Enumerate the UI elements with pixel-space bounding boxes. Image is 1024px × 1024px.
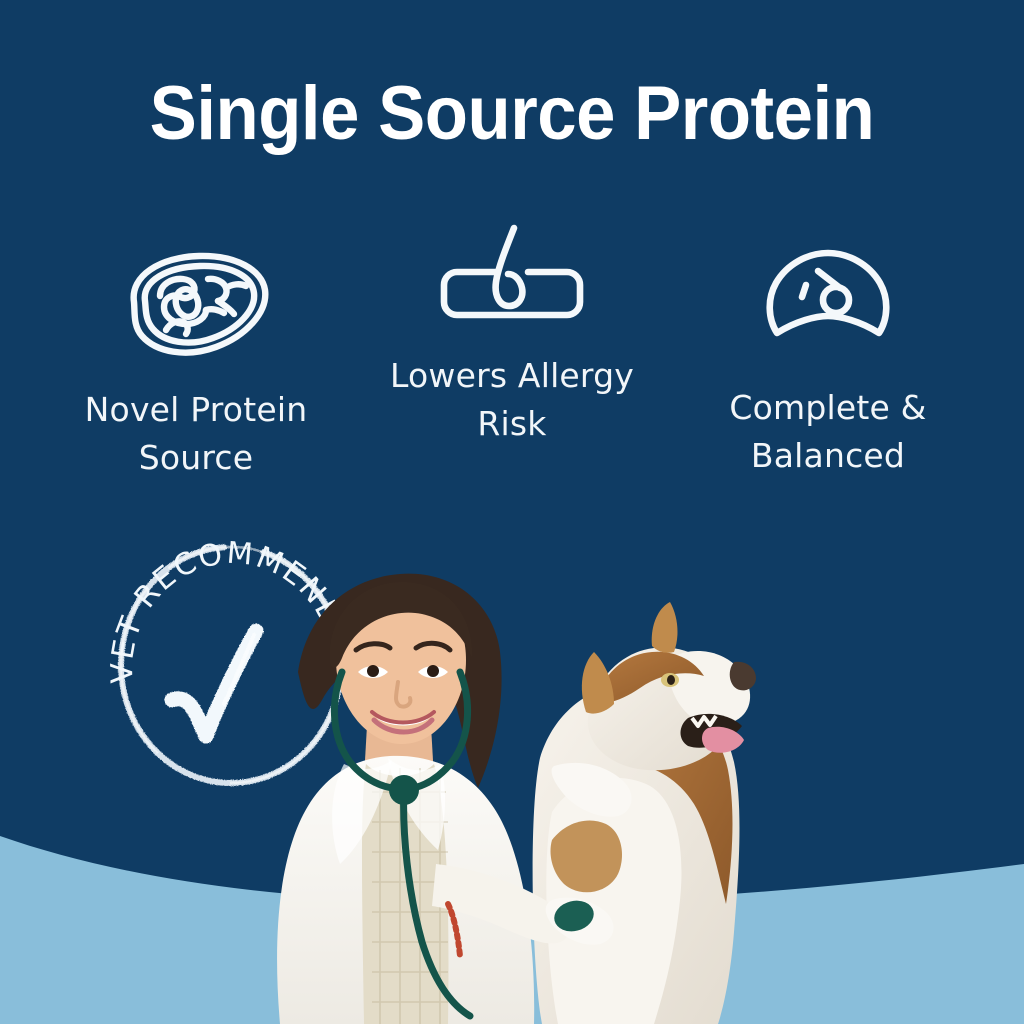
feature-item-lowers-allergy-risk: Lowers Allergy Risk <box>362 228 662 448</box>
feature-label-lowers-allergy-risk: Lowers Allergy Risk <box>390 352 634 448</box>
feature-label-line-1: Lowers Allergy <box>390 352 634 400</box>
feature-item-novel-protein-source: Novel Protein Source <box>46 228 346 482</box>
promo-banner: Single Source Protein Nov <box>0 0 1024 1024</box>
feature-label-line-2: Risk <box>390 400 634 448</box>
feature-label-line-2: Source <box>85 434 308 482</box>
hair-follicle-icon <box>436 222 588 340</box>
gauge-icon <box>764 244 892 362</box>
feature-label-line-1: Novel Protein <box>85 386 308 434</box>
husky-dog <box>533 602 756 1024</box>
feature-label-novel-protein-source: Novel Protein Source <box>85 386 308 482</box>
veterinarian-with-husky-photo <box>222 512 782 1024</box>
feature-label-line-2: Balanced <box>729 432 926 480</box>
steak-icon <box>120 246 272 364</box>
feature-label-line-1: Complete & <box>729 384 926 432</box>
feature-label-complete-and-balanced: Complete & Balanced <box>729 384 926 480</box>
feature-item-complete-and-balanced: Complete & Balanced <box>678 228 978 480</box>
feature-list: Novel Protein Source Lowers Allergy Risk <box>0 228 1024 482</box>
page-title: Single Source Protein <box>36 74 988 154</box>
